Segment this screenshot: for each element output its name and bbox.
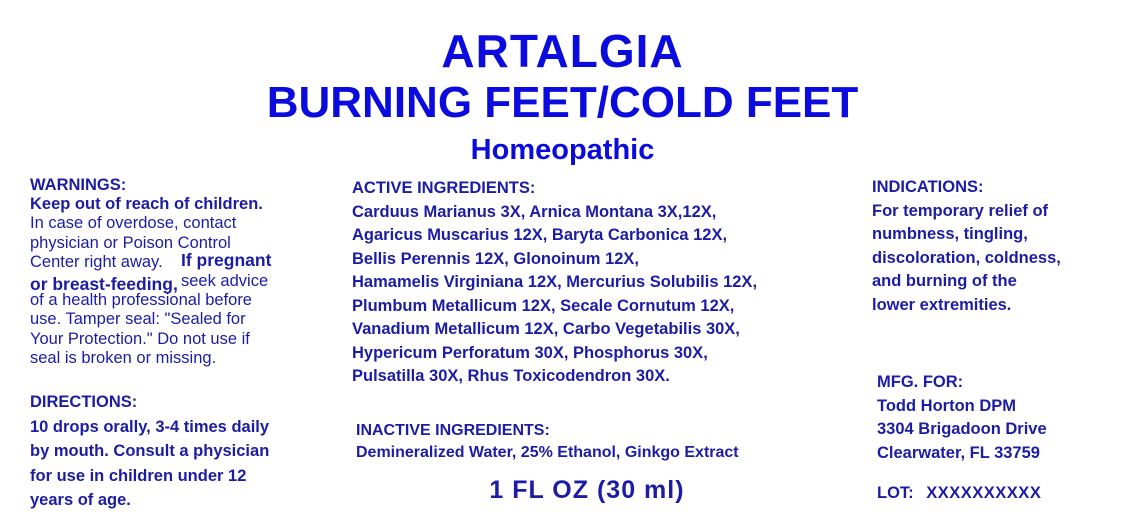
net-contents: 1 FL OZ (30 ml): [352, 476, 822, 505]
warnings-line: In case of overdose, contact: [30, 214, 330, 233]
manufacturer-line: 3304 Brigadoon Drive: [877, 418, 1117, 442]
indications-line: numbness, tingling,: [872, 223, 1112, 247]
directions-line: 10 drops orally, 3-4 times daily: [30, 415, 330, 440]
manufacturer-line: Clearwater, FL 33759: [877, 442, 1117, 466]
active-ingredients-line: Hypericum Perforatum 30X, Phosphorus 30X…: [352, 342, 822, 366]
warnings-line: seal is broken or missing.: [30, 349, 330, 368]
manufacturer-line: Todd Horton DPM: [877, 395, 1117, 419]
directions-line: for use in children under 12: [30, 464, 330, 489]
inactive-ingredients-line: Demineralized Water, 25% Ethanol, Ginkgo…: [356, 442, 826, 464]
product-label: ARTALGIA BURNING FEET/COLD FEET Homeopat…: [0, 0, 1125, 525]
active-ingredients-line: Hamamelis Virginiana 12X, Mercurius Solu…: [352, 271, 822, 295]
warnings-heading: WARNINGS:: [30, 176, 330, 195]
manufacturer-heading: MFG. FOR:: [877, 371, 1117, 395]
indications-section: INDICATIONS: For temporary relief of num…: [872, 176, 1112, 317]
product-subtitle: BURNING FEET/COLD FEET: [0, 78, 1125, 128]
indications-line: discoloration, coldness,: [872, 247, 1112, 271]
active-ingredients-line: Bellis Perennis 12X, Glonoinum 12X,: [352, 248, 822, 272]
active-ingredients-line: Pulsatilla 30X, Rhus Toxicodendron 30X.: [352, 365, 822, 389]
indications-line: and burning of the: [872, 270, 1112, 294]
warnings-line: Keep out of reach of children.: [30, 195, 330, 214]
warnings-overlay-line: or breast-feeding,: [30, 272, 330, 296]
active-ingredients-section: ACTIVE INGREDIENTS: Carduus Marianus 3X,…: [352, 177, 822, 389]
active-ingredients-heading: ACTIVE INGREDIENTS:: [352, 177, 822, 201]
directions-heading: DIRECTIONS:: [30, 390, 330, 415]
indications-line: lower extremities.: [872, 294, 1112, 318]
lot-label: LOT:: [877, 484, 914, 502]
warnings-line: use. Tamper seal: "Sealed for: [30, 310, 330, 329]
lot-value: XXXXXXXXXX: [926, 484, 1041, 502]
active-ingredients-line: Plumbum Metallicum 12X, Secale Cornutum …: [352, 295, 822, 319]
directions-line: years of age.: [30, 488, 330, 513]
brand-title: ARTALGIA: [0, 24, 1125, 78]
active-ingredients-line: Vanadium Metallicum 12X, Carbo Vegetabil…: [352, 318, 822, 342]
directions-line: by mouth. Consult a physician: [30, 439, 330, 464]
indications-line: For temporary relief of: [872, 200, 1112, 224]
lot-number: LOT: XXXXXXXXXX: [877, 484, 1117, 503]
indications-heading: INDICATIONS:: [872, 176, 1112, 200]
manufacturer-section: MFG. FOR: Todd Horton DPM 3304 Brigadoon…: [877, 371, 1117, 465]
inactive-ingredients-heading: INACTIVE INGREDIENTS:: [356, 420, 826, 442]
product-type: Homeopathic: [0, 134, 1125, 167]
warnings-line: Your Protection." Do not use if: [30, 330, 330, 349]
active-ingredients-line: Carduus Marianus 3X, Arnica Montana 3X,1…: [352, 201, 822, 225]
warnings-pregnancy-overlay: If pregnant or breast-feeding,: [30, 248, 330, 296]
directions-section: DIRECTIONS: 10 drops orally, 3-4 times d…: [30, 390, 330, 513]
warnings-overlay-line: If pregnant: [30, 248, 330, 272]
active-ingredients-line: Agaricus Muscarius 12X, Baryta Carbonica…: [352, 224, 822, 248]
inactive-ingredients-section: INACTIVE INGREDIENTS: Demineralized Wate…: [356, 420, 826, 464]
